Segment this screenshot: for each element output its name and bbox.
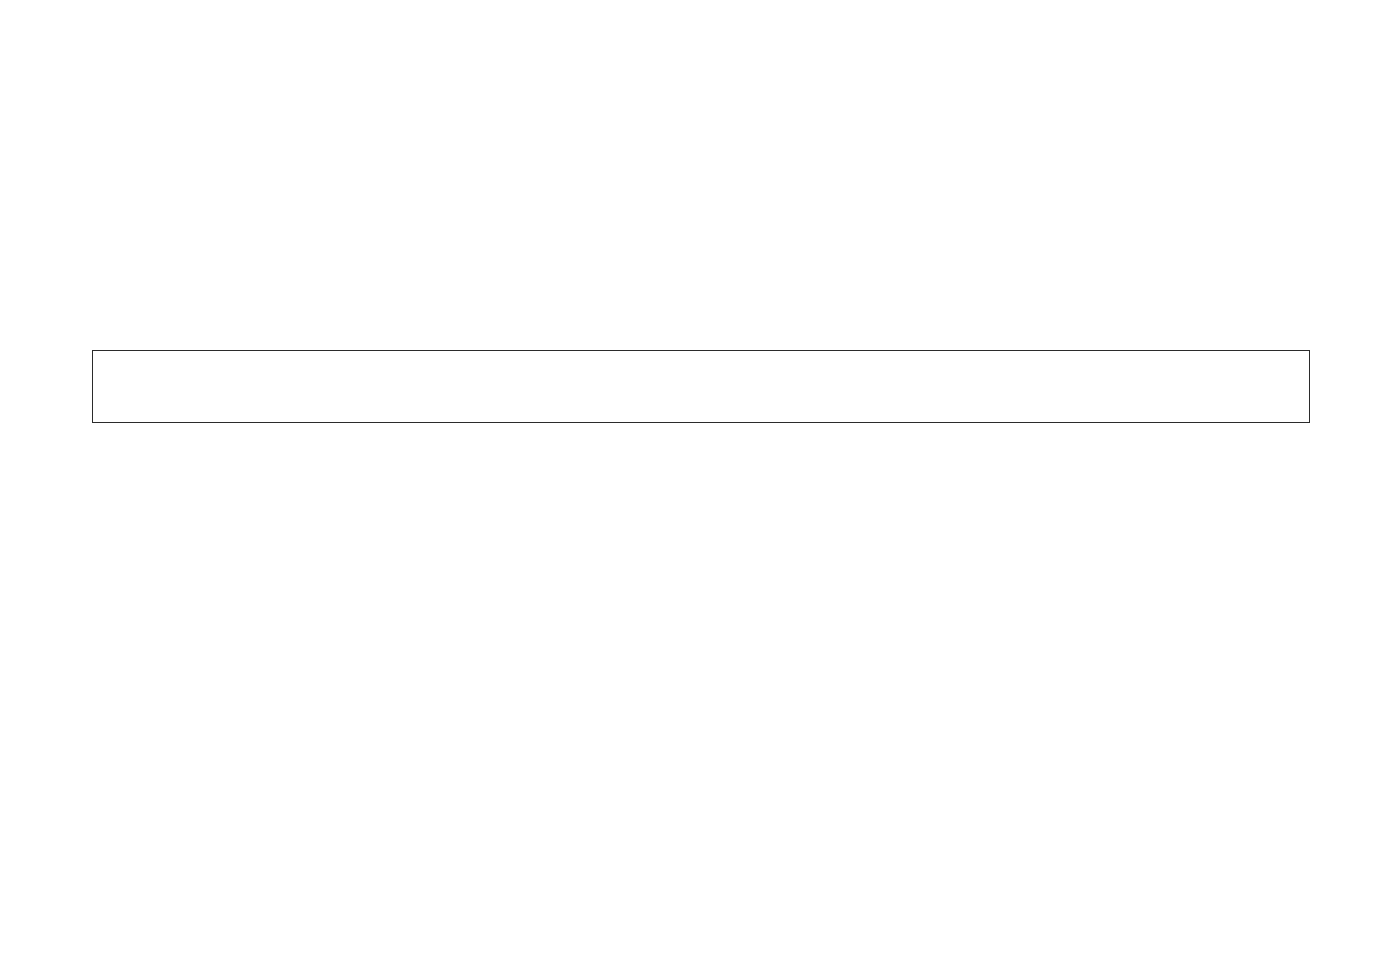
spectrum-frame (92, 350, 1310, 423)
info-line-plae (68, 85, 111, 139)
header-summary-line (68, 4, 196, 20)
phot-z-pdf-plot (930, 745, 1382, 923)
info-line-cont-w (68, 31, 111, 85)
detection-info-block (68, 31, 111, 139)
header-timestamp-version (1369, 4, 1386, 20)
twod-spec-montage (440, 33, 770, 258)
